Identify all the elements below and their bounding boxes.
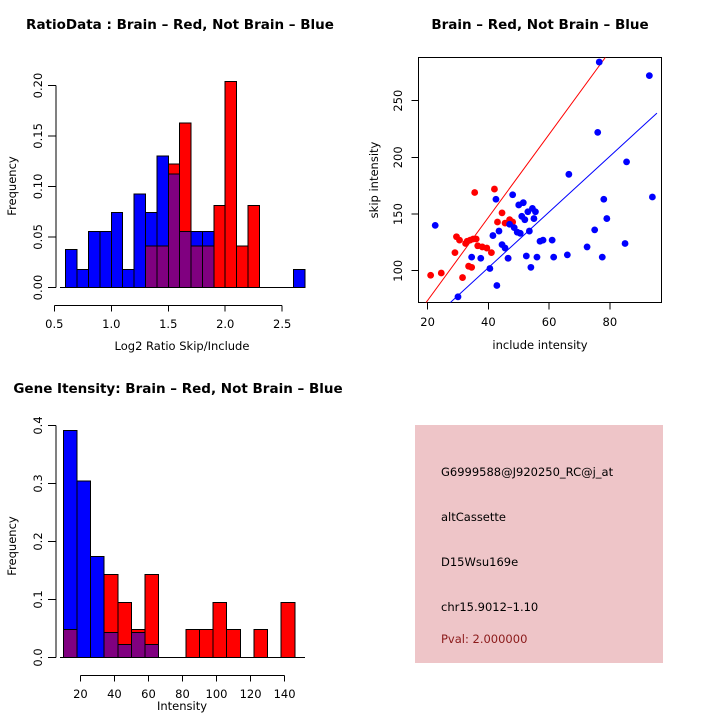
histogram-bar (294, 269, 305, 287)
scatter-point (565, 171, 572, 178)
scatter-point (473, 236, 480, 243)
gene-ytick-0: 0.0 (31, 648, 45, 666)
histogram-bar (281, 602, 295, 657)
info-location: chr15.9012–1.10 (441, 600, 538, 614)
ratio-y-ticks (48, 136, 56, 237)
histogram-bar (77, 481, 91, 657)
panel-ratio-histogram: RatioData : Brain – Red, Not Brain – Blu… (0, 0, 360, 360)
histogram-bar (200, 630, 214, 658)
histogram-bar-overlap (202, 246, 213, 288)
ratio-ytick-0: 0.00 (31, 275, 45, 301)
scatter-point (468, 254, 475, 261)
scatter-point (452, 249, 459, 256)
histogram-bar-overlap (168, 174, 179, 287)
gene-y-axis-label: Frequency (5, 516, 19, 576)
scatter-point (486, 265, 493, 272)
ratio-ytick-4: 0.20 (31, 73, 45, 99)
histogram-bar (227, 630, 241, 658)
histogram-bar (100, 231, 111, 287)
scatter-point (594, 129, 601, 136)
gene-histogram-title: Gene Itensity: Brain – Red, Not Brain – … (13, 381, 342, 397)
x-tick-label: 1.5 (159, 317, 177, 331)
histogram-bar (254, 630, 268, 658)
scatter-point (505, 255, 512, 262)
histogram-bar (186, 630, 200, 658)
scatter-point (564, 251, 571, 258)
histogram-bar (213, 602, 227, 657)
ratio-histogram-svg: RatioData : Brain – Red, Not Brain – Blu… (0, 0, 360, 360)
x-tick-label: 40 (107, 687, 122, 701)
histogram-bar-overlap (157, 246, 168, 288)
x-tick-label: 20 (73, 687, 88, 701)
scatter-point (646, 72, 653, 79)
scatter-point (596, 59, 603, 66)
scatter-point (499, 209, 506, 216)
histogram-bar (88, 231, 99, 287)
x-tick-label: 140 (274, 687, 296, 701)
x-tick-label: 100 (206, 687, 228, 701)
histogram-bar-overlap (104, 633, 118, 658)
ratio-histogram-title: RatioData : Brain – Red, Not Brain – Blu… (26, 17, 334, 33)
scatter-point (520, 199, 527, 206)
regression-line (450, 113, 657, 302)
gene-ytick-1: 0.1 (31, 590, 45, 608)
histogram-bar (63, 431, 77, 658)
x-tick-label: 80 (603, 315, 618, 329)
scatter-point (527, 264, 534, 271)
scatter-y-axis: 100150200250 (391, 90, 419, 282)
scatter-point (526, 228, 533, 235)
scatter-points-group (427, 59, 656, 301)
scatter-point (477, 255, 484, 262)
x-tick-label: 120 (240, 687, 262, 701)
scatter-point (531, 215, 538, 222)
ratio-bars-group (66, 82, 305, 288)
gene-histogram-svg: Gene Itensity: Brain – Red, Not Brain – … (0, 360, 360, 720)
histogram-bar-overlap (63, 630, 77, 658)
gene-y-ticks (48, 484, 56, 600)
figure-page: RatioData : Brain – Red, Not Brain – Blu… (0, 0, 720, 720)
ratio-y-axis-label: Frequency (5, 156, 19, 216)
info-gene-id: G6999588@J920250_RC@j_at (441, 465, 613, 479)
scatter-point (493, 282, 500, 289)
scatter-point (502, 245, 509, 252)
scatter-point (540, 237, 547, 244)
info-gene-symbol: D15Wsu169e (441, 555, 518, 569)
scatter-y-axis-label: skip intensity (367, 141, 381, 218)
scatter-x-axis: 20406080 (420, 303, 617, 330)
scatter-point (622, 240, 629, 247)
histogram-bar-overlap (118, 645, 132, 658)
panel-intensity-scatter: Brain – Red, Not Brain – Blue 1001502002… (360, 0, 720, 360)
scatter-point (490, 232, 497, 239)
scatter-point (496, 228, 503, 235)
y-tick-label: 150 (391, 203, 405, 225)
scatter-point (599, 254, 606, 261)
panel-gene-histogram: Gene Itensity: Brain – Red, Not Brain – … (0, 360, 360, 720)
scatter-point (438, 270, 445, 277)
gene-ytick-4: 0.4 (31, 416, 45, 434)
scatter-point (509, 191, 516, 198)
x-tick-label: 60 (141, 687, 156, 701)
x-tick-label: 1.0 (102, 317, 120, 331)
info-pval: Pval: 2.000000 (441, 632, 527, 646)
x-tick-label: 2.5 (273, 317, 291, 331)
histogram-bar-overlap (191, 246, 202, 288)
gene-ytick-2: 0.2 (31, 532, 45, 550)
histogram-bar-overlap (145, 246, 156, 288)
scatter-point (534, 254, 541, 261)
ratio-ytick-3: 0.15 (31, 123, 45, 149)
histogram-bar-overlap (131, 633, 145, 658)
scatter-point (491, 186, 498, 193)
histogram-bar (66, 249, 77, 287)
x-tick-label: 60 (542, 315, 557, 329)
scatter-point (455, 293, 462, 300)
scatter-point (591, 227, 598, 234)
gene-x-axis: 20406080100120140 (73, 676, 295, 702)
histogram-bar (225, 82, 236, 288)
histogram-bar (91, 557, 105, 658)
scatter-point (488, 249, 495, 256)
histogram-bar-overlap (180, 231, 191, 287)
scatter-point (549, 237, 556, 244)
gene-bars-group (63, 431, 294, 658)
ratio-x-axis: 0.51.01.52.02.5 (45, 306, 291, 332)
scatter-point (600, 196, 607, 203)
ratio-ytick-2: 0.10 (31, 174, 45, 200)
regression-line (426, 58, 605, 303)
histogram-bar (134, 194, 145, 287)
intensity-scatter-svg: Brain – Red, Not Brain – Blue 1001502002… (360, 0, 720, 360)
gene-ytick-3: 0.3 (31, 474, 45, 492)
scatter-point (517, 230, 524, 237)
histogram-bar (111, 212, 122, 287)
scatter-point (427, 272, 434, 279)
scatter-point (432, 222, 439, 229)
scatter-x-axis-label: include intensity (492, 338, 587, 352)
histogram-bar (237, 246, 248, 288)
histogram-bar (214, 205, 225, 287)
y-tick-label: 100 (391, 260, 405, 282)
scatter-point (471, 189, 478, 196)
scatter-point (468, 264, 475, 271)
histogram-bar-overlap (145, 645, 159, 658)
x-tick-label: 2.0 (216, 317, 234, 331)
scatter-point (493, 196, 500, 203)
y-tick-label: 250 (391, 90, 405, 112)
ratio-ytick-1: 0.05 (31, 224, 45, 250)
info-event-type: altCassette (441, 510, 506, 524)
scatter-point (494, 219, 501, 226)
y-tick-label: 200 (391, 146, 405, 168)
scatter-point (550, 254, 557, 261)
scatter-point (523, 253, 530, 260)
histogram-bar (123, 269, 134, 287)
gene-x-axis-label: Intensity (157, 699, 207, 713)
scatter-point (623, 158, 630, 165)
scatter-point (603, 215, 610, 222)
x-tick-label: 40 (481, 315, 496, 329)
histogram-bar (248, 205, 259, 287)
histogram-bar (77, 269, 88, 287)
x-tick-label: 20 (420, 315, 435, 329)
scatter-point (521, 216, 528, 223)
scatter-point (459, 274, 466, 281)
scatter-title: Brain – Red, Not Brain – Blue (431, 17, 648, 33)
x-tick-label: 0.5 (45, 317, 63, 331)
scatter-point (649, 194, 656, 201)
ratio-x-axis-label: Log2 Ratio Skip/Include (115, 339, 250, 353)
scatter-regression-lines (426, 58, 657, 303)
gene-info-panel: G6999588@J920250_RC@j_at altCassette D15… (415, 425, 663, 663)
scatter-point (584, 244, 591, 251)
scatter-plot-frame (419, 58, 662, 303)
scatter-point (532, 208, 539, 215)
scatter-point (456, 237, 463, 244)
